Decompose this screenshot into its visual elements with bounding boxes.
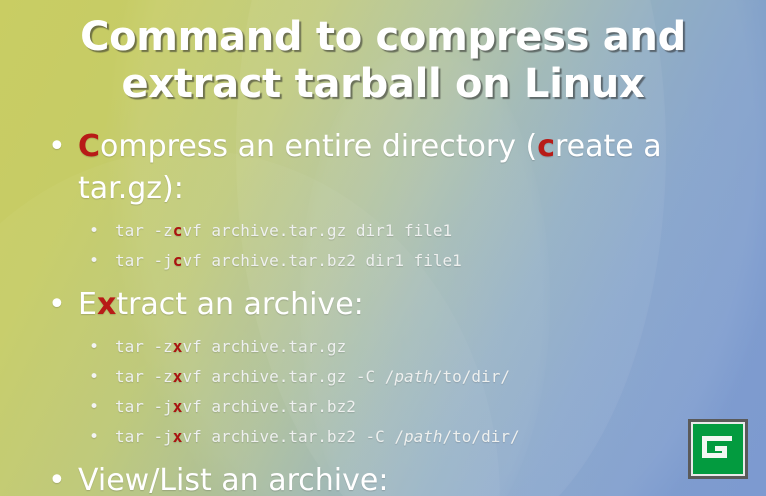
bullet-level1-label: Compress an entire directory (create a t…	[78, 129, 662, 206]
slide-title: Command to compress and extract tarball …	[0, 14, 766, 108]
slide-canvas: Command to compress and extract tarball …	[0, 0, 766, 496]
command-text: tar -jxvf archive.tar.bz2	[115, 397, 356, 416]
text-run: tar -j	[115, 397, 173, 416]
command-line: •tar -jxvf archive.tar.bz2	[0, 392, 766, 422]
bullet-level1-label: View/List an archive:	[78, 463, 388, 496]
g-logo-green-field	[693, 424, 743, 474]
command-text: tar -jcvf archive.tar.bz2 dir1 file1	[115, 251, 462, 270]
highlighted-letter: x	[173, 367, 183, 386]
text-run: /to/dir/	[443, 427, 520, 446]
text-run: vf archive.tar.bz2 dir1 file1	[182, 251, 461, 270]
text-run: vf archive.tar.gz -C /	[182, 367, 394, 386]
bullet-marker-icon: •	[89, 422, 105, 452]
bullet-marker-icon: •	[89, 362, 105, 392]
bullet-marker-icon: •	[89, 392, 105, 422]
bullet-marker-icon: •	[48, 460, 68, 496]
text-run: tar -z	[115, 221, 173, 240]
spacer	[0, 276, 766, 284]
bullet-level1: •Compress an entire directory (create a …	[0, 126, 766, 210]
bullet-marker-icon: •	[48, 126, 68, 168]
slide-title-line-2: extract tarball on Linux	[0, 61, 766, 108]
command-text: tar -zcvf archive.tar.gz dir1 file1	[115, 221, 452, 240]
spacer	[0, 452, 766, 460]
text-run: vf archive.tar.gz	[182, 337, 346, 356]
text-run: tar -z	[115, 367, 173, 386]
bullet-level1: •Extract an archive:	[0, 284, 766, 326]
highlighted-letter: x	[173, 397, 183, 416]
command-line: •tar -zxvf archive.tar.gz -C /path/to/di…	[0, 362, 766, 392]
command-text: tar -zxvf archive.tar.gz	[115, 337, 346, 356]
highlighted-letter: x	[173, 427, 183, 446]
italic-run: path	[404, 427, 443, 446]
text-run: E	[78, 287, 97, 322]
command-line: •tar -jcvf archive.tar.bz2 dir1 file1	[0, 246, 766, 276]
highlighted-letter: x	[97, 287, 116, 322]
text-run: View/List an archive:	[78, 463, 388, 496]
italic-run: path	[394, 367, 433, 386]
text-run: /to/dir/	[433, 367, 510, 386]
bullet-marker-icon: •	[48, 284, 68, 326]
command-line: •tar -zxvf archive.tar.gz	[0, 332, 766, 362]
text-run: vf archive.tar.gz dir1 file1	[182, 221, 452, 240]
bullet-level1-label: Extract an archive:	[78, 287, 364, 322]
slide-title-line-1: Command to compress and	[0, 14, 766, 61]
text-run: vf archive.tar.bz2	[182, 397, 355, 416]
command-line: •tar -jxvf archive.tar.bz2 -C /path/to/d…	[0, 422, 766, 452]
command-text: tar -zxvf archive.tar.gz -C /path/to/dir…	[115, 367, 510, 386]
highlighted-letter: c	[173, 221, 183, 240]
text-run: tar -j	[115, 427, 173, 446]
text-run: ompress an entire directory (	[100, 129, 537, 164]
bullet-marker-icon: •	[89, 246, 105, 276]
highlighted-letter: c	[173, 251, 183, 270]
text-run: tar -z	[115, 337, 173, 356]
g-logo-inner-frame	[691, 422, 745, 476]
command-text: tar -jxvf archive.tar.bz2 -C /path/to/di…	[115, 427, 520, 446]
text-run: vf archive.tar.bz2 -C /	[182, 427, 404, 446]
text-run: tar -j	[115, 251, 173, 270]
text-run: tract an archive:	[116, 287, 363, 322]
highlighted-letter: c	[537, 129, 555, 164]
bullet-marker-icon: •	[89, 216, 105, 246]
highlighted-letter: x	[173, 337, 183, 356]
slide-body: •Compress an entire directory (create a …	[0, 126, 766, 496]
g-logo	[688, 419, 748, 479]
highlighted-letter: C	[78, 129, 100, 164]
bullet-marker-icon: •	[89, 332, 105, 362]
command-line: •tar -zcvf archive.tar.gz dir1 file1	[0, 216, 766, 246]
bullet-level1: •View/List an archive:	[0, 460, 766, 496]
g-logo-glyph-bar-middle	[715, 446, 727, 451]
